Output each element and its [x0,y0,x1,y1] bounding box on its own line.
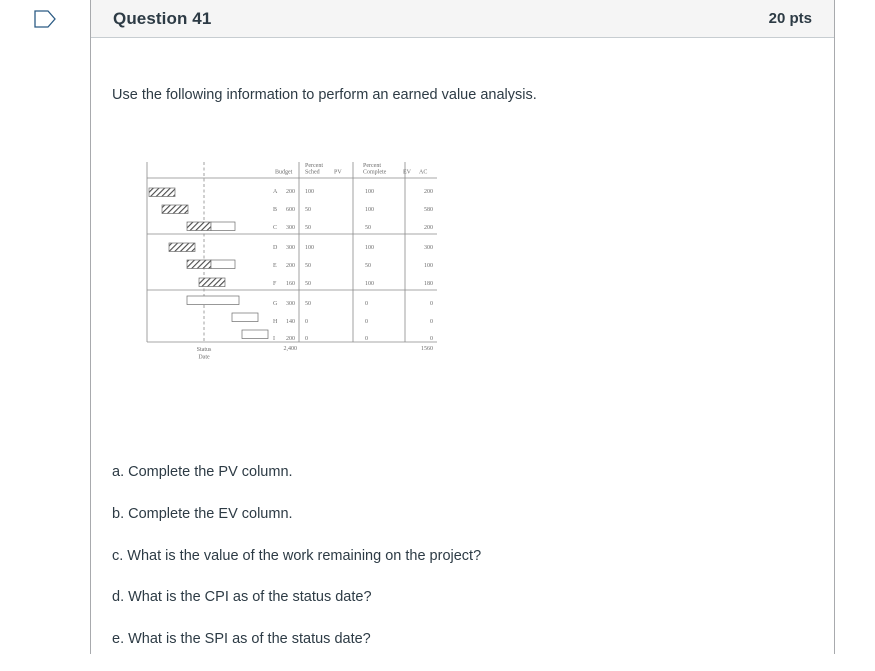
sub-question-d: d. What is the CPI as of the status date… [112,587,812,607]
sub-question-list: a. Complete the PV column. b. Complete t… [112,462,812,671]
gantt-bar-H-remaining [232,313,258,322]
row-A-budget: 200 [286,189,295,195]
row-F-percent-complete: 100 [365,281,374,287]
status-date-label-line1: Status [197,347,212,353]
row-C-task: C [273,225,277,231]
row-B-budget: 600 [286,207,295,213]
col-header-percent-complete-2: Complete [363,170,387,176]
gantt-bar-A-complete [149,188,175,197]
col-header-percent-sched-1: Percent [305,163,323,169]
col-header-ev: EV [403,170,412,176]
sub-question-b: b. Complete the EV column. [112,504,812,524]
row-F-percent-sched: 50 [305,281,311,287]
row-B-percent-sched: 50 [305,207,311,213]
points-badge: 20 pts [769,10,812,27]
row-C-percent-sched: 50 [305,225,311,231]
row-G-percent-sched: 50 [305,301,311,307]
row-G-percent-complete: 0 [365,301,368,307]
row-E-budget: 200 [286,263,295,269]
question-card: Question 41 20 pts Use the following inf… [90,0,835,654]
sub-question-e: e. What is the SPI as of the status date… [112,629,812,649]
row-H-budget: 140 [286,319,295,325]
col-header-pv: PV [334,170,342,176]
row-F-ac: 180 [424,281,433,287]
question-flag-gutter [0,0,90,38]
row-B-task: B [273,207,277,213]
gantt-bar-F-complete [199,278,225,287]
row-I-percent-sched: 0 [305,336,308,342]
row-A-percent-sched: 100 [305,189,314,195]
row-B-percent-complete: 100 [365,207,374,213]
row-H-ac: 0 [430,319,433,325]
row-E-task: E [273,263,277,269]
row-G-ac: 0 [430,301,433,307]
row-F-task: F [273,281,277,287]
row-G-budget: 300 [286,301,295,307]
gantt-bar-C-complete [187,222,211,231]
question-header: Question 41 20 pts [91,0,834,38]
gantt-bar-E-complete [187,260,211,269]
row-C-ac: 200 [424,225,433,231]
sub-question-a: a. Complete the PV column. [112,462,812,482]
row-A-task: A [273,189,278,195]
earned-value-gantt-table-svg: BudgetPercentSchedPVPercentCompleteEVACA… [141,160,441,360]
row-A-ac: 200 [424,189,433,195]
row-D-percent-sched: 100 [305,245,314,251]
bookmark-flag-icon[interactable] [34,10,56,28]
row-C-percent-complete: 50 [365,225,371,231]
gantt-bar-I-remaining [242,330,268,339]
col-header-budget: Budget [275,170,293,176]
gantt-bar-B-complete [162,205,188,214]
total-ac: 1560 [421,346,433,352]
row-C-budget: 300 [286,225,295,231]
sub-question-c: c. What is the value of the work remaini… [112,546,812,566]
earned-value-figure: BudgetPercentSchedPVPercentCompleteEVACA… [141,160,441,360]
row-E-ac: 100 [424,263,433,269]
gantt-bar-C-remaining [211,222,235,231]
row-D-ac: 300 [424,245,433,251]
row-H-percent-sched: 0 [305,319,308,325]
row-H-percent-complete: 0 [365,319,368,325]
question-prompt: Use the following information to perform… [112,85,537,105]
row-I-ac: 0 [430,336,433,342]
row-D-budget: 300 [286,245,295,251]
col-header-percent-sched-2: Sched [305,170,320,176]
row-I-percent-complete: 0 [365,336,368,342]
status-date-label-line2: Date [198,355,210,361]
row-I-budget: 200 [286,336,295,342]
row-D-percent-complete: 100 [365,245,374,251]
gantt-bar-D-complete [169,243,195,252]
col-header-percent-complete-1: Percent [363,163,381,169]
page-title: Question 41 [113,9,211,29]
row-F-budget: 160 [286,281,295,287]
row-G-task: G [273,301,278,307]
row-B-ac: 580 [424,207,433,213]
row-D-task: D [273,245,278,251]
gantt-bar-E-remaining [211,260,235,269]
row-I-task: I [273,336,275,342]
row-E-percent-sched: 50 [305,263,311,269]
row-H-task: H [273,319,278,325]
total-budget: 2,400 [284,346,298,352]
row-A-percent-complete: 100 [365,189,374,195]
row-E-percent-complete: 50 [365,263,371,269]
gantt-bar-G-remaining [187,296,239,305]
col-header-ac: AC [419,170,427,176]
